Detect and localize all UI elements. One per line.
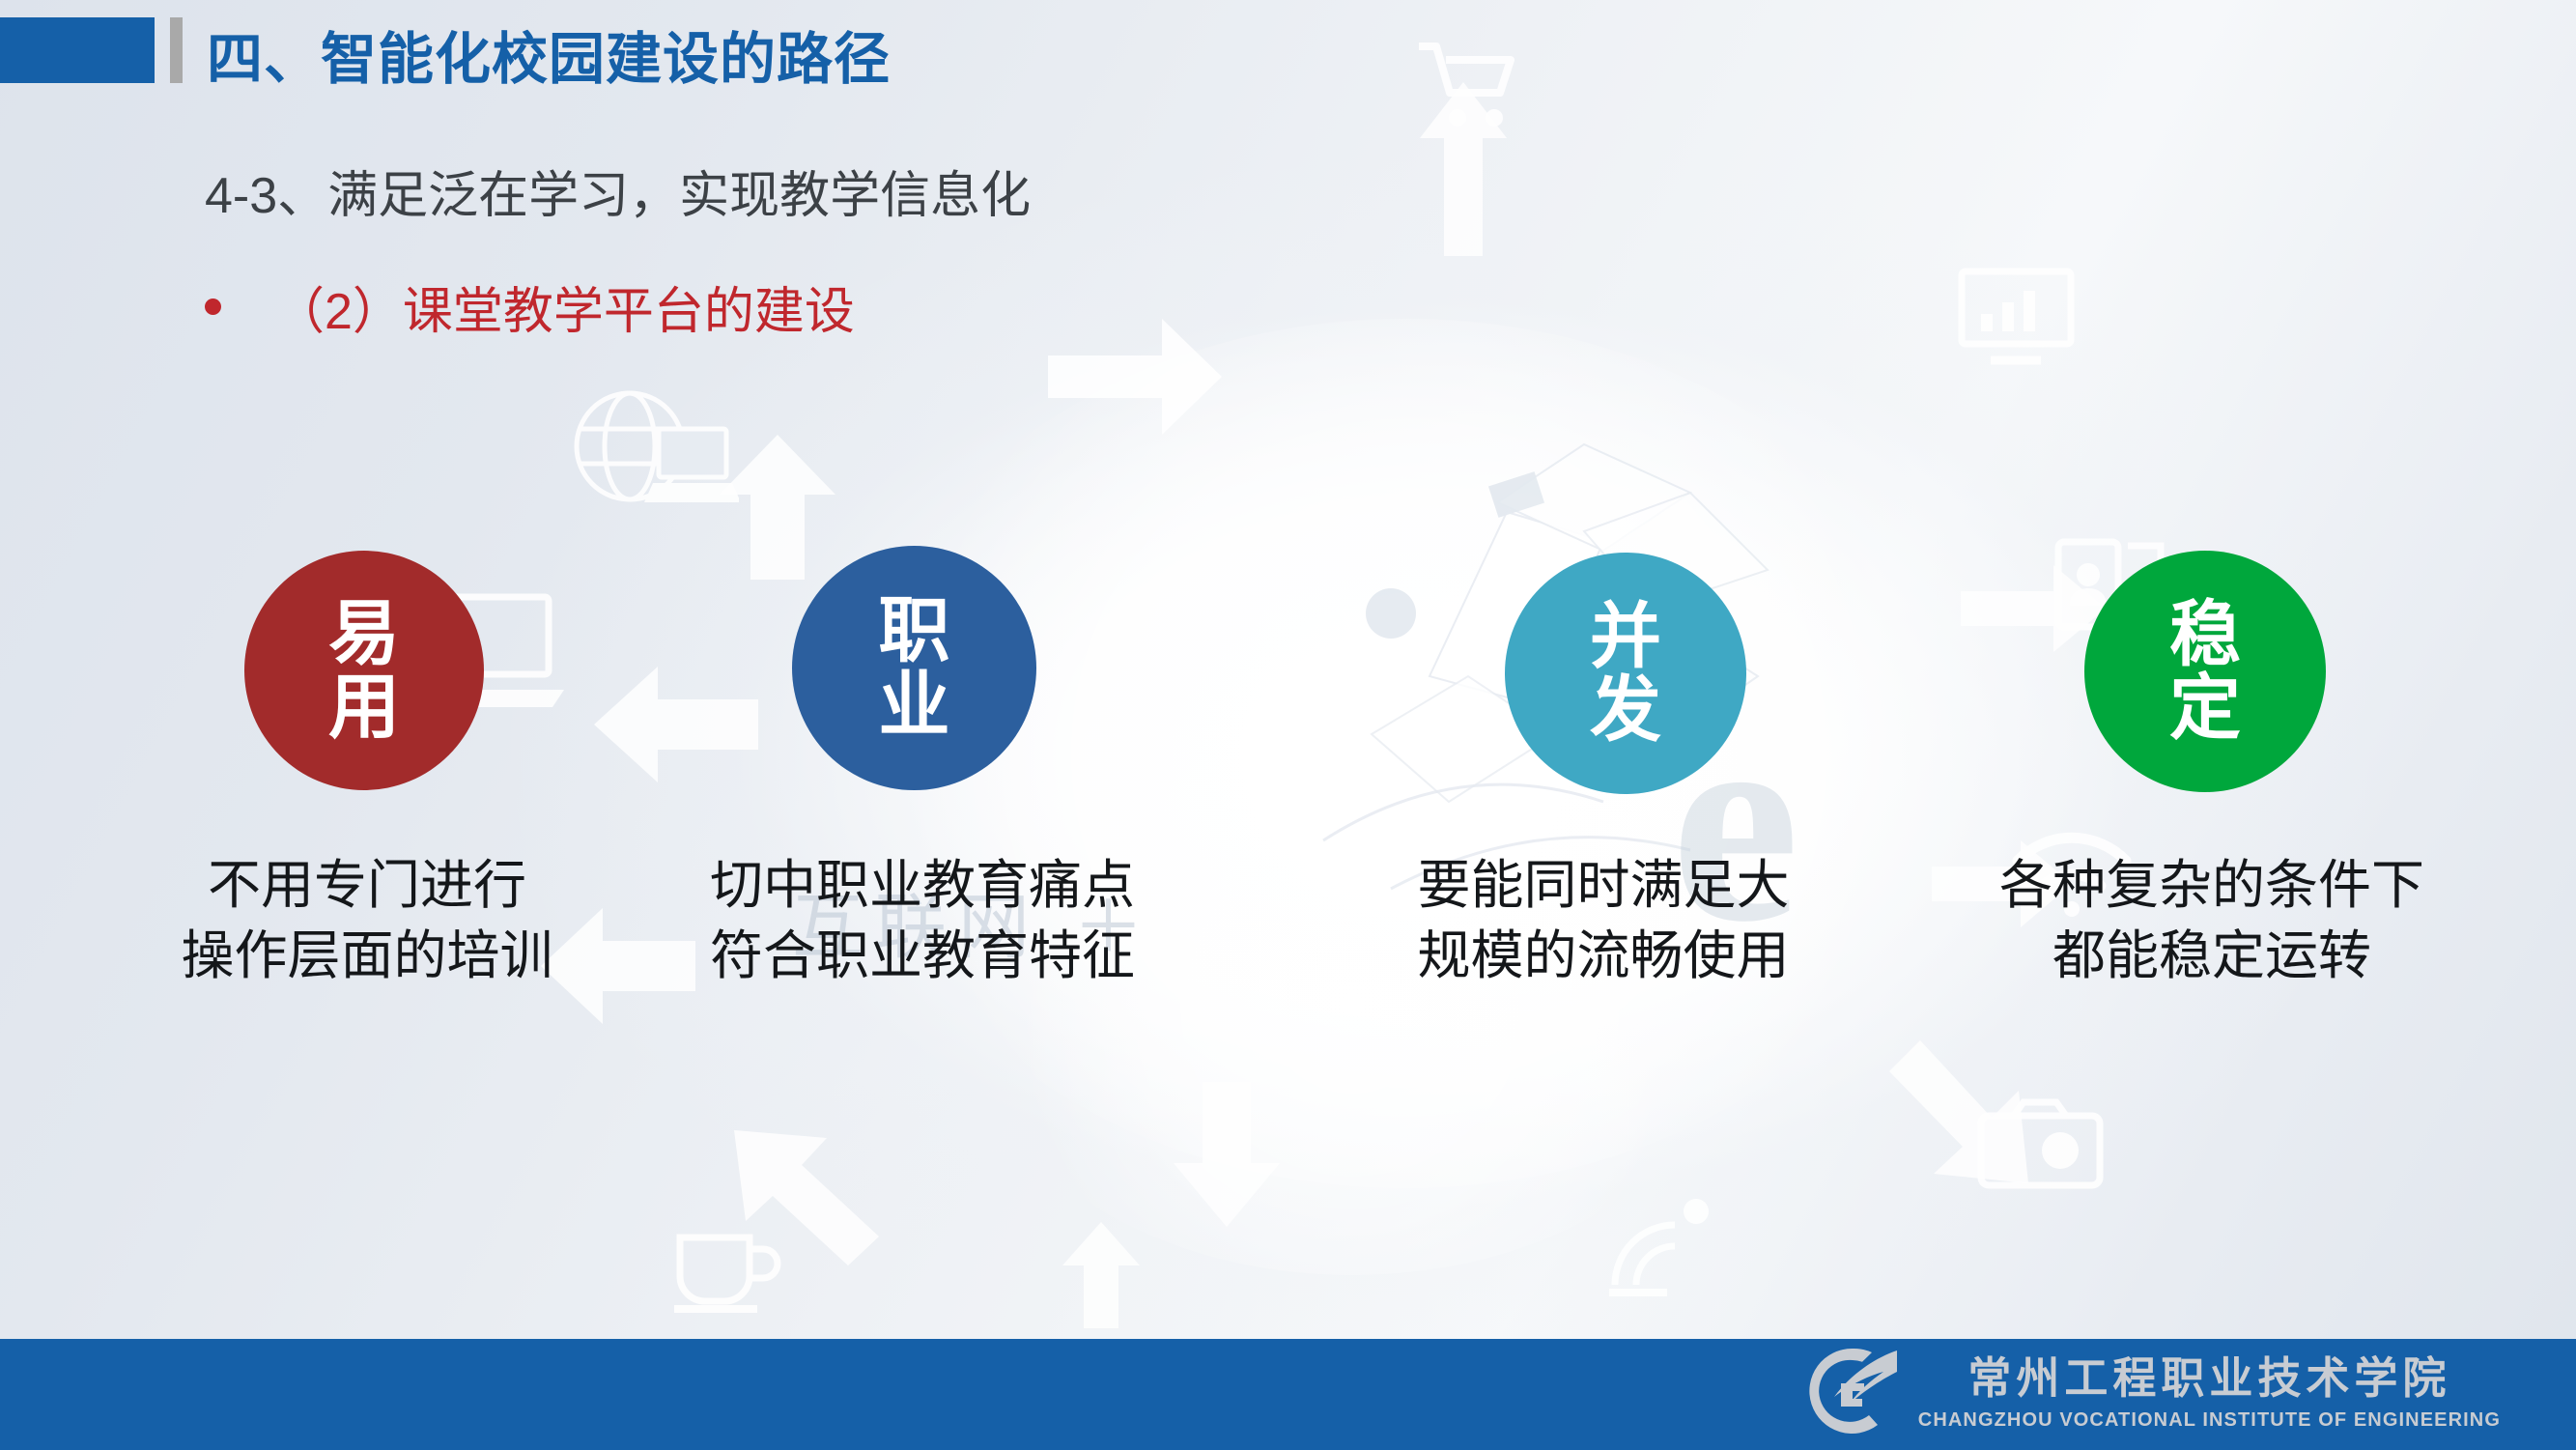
arrow-up-icon [1420, 82, 1507, 256]
institution-logo: 常州工程职业技术学院 CHANGZHOU VOCATIONAL INSTITUT… [1802, 1345, 2501, 1442]
page-subtitle: 4-3、满足泛在学习，实现教学信息化 [205, 155, 1031, 227]
bullet-label: （2）课堂教学平台的建设 [274, 270, 855, 343]
pillar-caption-2: 切中职业教育痛点 符合职业教育特征 [628, 850, 1217, 991]
pillar-badge-4: 稳 定 [2084, 551, 2326, 792]
slide-canvas: e 互联网 ＋ [0, 0, 2576, 1450]
header-accent-bar [170, 17, 183, 83]
arrow-right-icon [1961, 565, 2106, 652]
bullet-dot-icon [205, 299, 221, 315]
pillar-caption-4: 各种复杂的条件下 都能稳定运转 [1932, 850, 2492, 991]
globe-laptop-icon [570, 386, 739, 526]
pillar-caption-3: 要能同时满足大 规模的流畅使用 [1333, 850, 1874, 991]
pillar-badge-1-line2: 用 [328, 670, 400, 744]
arrow-up-icon-2 [720, 435, 835, 580]
camera-icon [1975, 1096, 2106, 1193]
pillar-badge-4-line2: 定 [2169, 671, 2241, 745]
page-title: 四、智能化校园建设的路径 [207, 14, 891, 95]
pillar-badge-2: 职 业 [792, 546, 1036, 790]
pillar-caption-4-line1: 各种复杂的条件下 [1932, 850, 2492, 921]
pillar-caption-1-line1: 不用专门进行 [87, 850, 647, 921]
arrow-down-right-icon [1874, 1038, 2028, 1183]
pillar-caption-1-line2: 操作层面的培训 [87, 921, 647, 991]
pillar-badge-1-line1: 易 [328, 597, 400, 670]
arrow-left-icon [594, 667, 758, 782]
footer-bar: 常州工程职业技术学院 CHANGZHOU VOCATIONAL INSTITUT… [0, 1339, 2576, 1450]
pillar-badge-1: 易 用 [244, 551, 484, 790]
pillar-caption-1: 不用专门进行 操作层面的培训 [87, 850, 647, 991]
pillar-caption-2-line1: 切中职业教育痛点 [628, 850, 1217, 921]
coffee-cup-icon [666, 1212, 782, 1314]
pillar-badge-2-line1: 职 [879, 594, 950, 668]
pillar-badge-3-line2: 发 [1590, 673, 1661, 747]
pillar-caption-4-line2: 都能稳定运转 [1932, 921, 2492, 991]
chart-monitor-icon [1956, 266, 2077, 367]
phoenix-swoosh-logo-icon [1802, 1345, 1903, 1442]
bullet-item: （2）课堂教学平台的建设 [205, 270, 855, 343]
arrow-up-left-icon [734, 1130, 879, 1265]
arrow-small-up-icon [1062, 1222, 1140, 1328]
arrow-down-icon [1174, 1082, 1280, 1227]
header-accent-block [0, 17, 155, 83]
shopping-cart-icon [1415, 39, 1516, 130]
pillar-badge-3-line1: 并 [1590, 600, 1661, 673]
satellite-dish-icon [1603, 1188, 1729, 1299]
institution-name-en: CHANGZHOU VOCATIONAL INSTITUTE OF ENGINE… [1918, 1409, 2501, 1432]
pillar-caption-3-line1: 要能同时满足大 [1333, 850, 1874, 921]
lower-glow [966, 734, 1739, 1275]
pillar-caption-3-line2: 规模的流畅使用 [1333, 921, 1874, 991]
pillar-badge-3: 并 发 [1505, 553, 1746, 794]
pillar-badge-4-line1: 稳 [2169, 598, 2241, 671]
pillar-badge-2-line2: 业 [879, 668, 950, 742]
center-glow [850, 319, 1961, 1188]
institution-name-cn: 常州工程职业技术学院 [1967, 1355, 2450, 1404]
institution-name-group: 常州工程职业技术学院 CHANGZHOU VOCATIONAL INSTITUT… [1918, 1355, 2501, 1433]
arrow-up-right-icon [1048, 319, 1222, 435]
pillar-caption-2-line2: 符合职业教育特征 [628, 921, 1217, 991]
